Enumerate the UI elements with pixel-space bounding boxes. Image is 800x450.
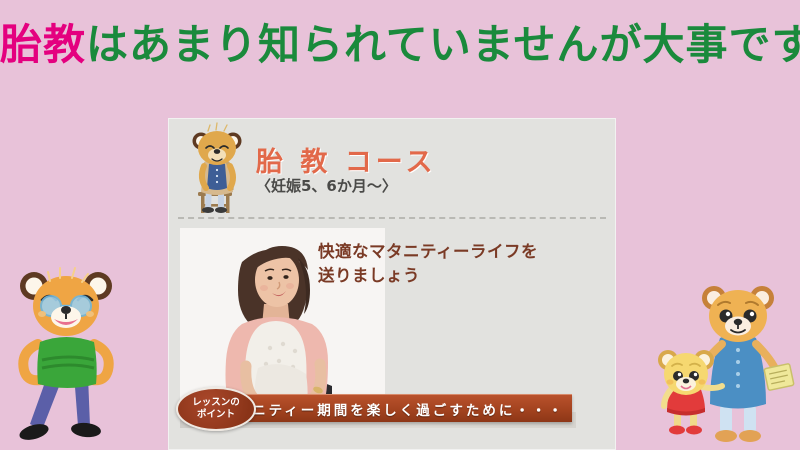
- banner-text: マタニティー期間を楽しく過ごすために・・・: [212, 395, 572, 422]
- course-message-line2: 送りましょう: [318, 264, 608, 288]
- header-divider: [178, 217, 606, 219]
- page-title-rest: はあまり知られていませんが大事です: [86, 20, 800, 69]
- slide-stage: 胎教はあまり知られていませんが大事です: [0, 0, 800, 450]
- course-subtitle: 〈妊娠5、6か月〜〉: [256, 175, 397, 196]
- sitting-bear-icon: [182, 122, 252, 214]
- bear-mascot-left: [2, 262, 134, 448]
- course-message: 快適なマタニティーライフを 送りましょう: [318, 240, 608, 288]
- bear-mascot-right-pair: [648, 272, 800, 450]
- lesson-point-badge: レッスンの ポイント: [176, 387, 256, 431]
- course-card: 胎 教 コース 〈妊娠5、6か月〜〉: [168, 118, 616, 450]
- badge-line2: ポイント: [197, 409, 235, 421]
- lesson-point-banner: マタニティー期間を楽しく過ごすために・・・ レッスンの ポイント: [176, 390, 576, 432]
- course-title: 胎 教 コース: [256, 140, 436, 179]
- page-title-accent: 胎教: [0, 20, 86, 69]
- page-title: 胎教はあまり知られていませんが大事です: [0, 22, 800, 68]
- course-card-header: 胎 教 コース 〈妊娠5、6か月〜〉: [168, 118, 616, 216]
- banner-bar: マタニティー期間を楽しく過ごすために・・・: [212, 394, 572, 422]
- course-message-line1: 快適なマタニティーライフを: [318, 240, 608, 264]
- badge-line1: レッスンの: [192, 397, 240, 409]
